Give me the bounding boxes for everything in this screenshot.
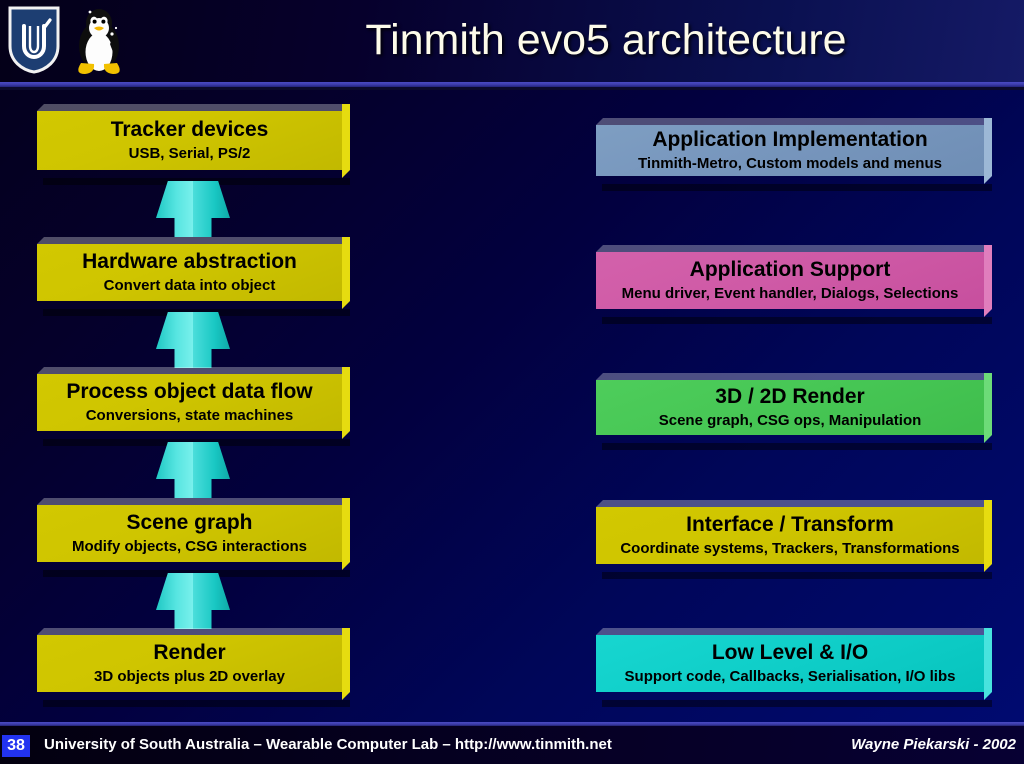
- box-title: Low Level & I/O: [712, 640, 868, 666]
- box-side-bevel: [984, 245, 992, 317]
- box-labels: Hardware abstraction Convert data into o…: [37, 244, 342, 301]
- box-top-bevel: [37, 628, 350, 635]
- header-divider-shadow: [0, 87, 1024, 90]
- box-title: 3D / 2D Render: [715, 384, 864, 410]
- box-side-bevel: [984, 373, 992, 443]
- pipeline-box-scene-graph[interactable]: Scene graph Modify objects, CSG interact…: [37, 498, 350, 570]
- box-subtitle: Convert data into object: [104, 275, 276, 296]
- flow-arrow-down-2: [156, 312, 230, 368]
- box-labels: Process object data flow Conversions, st…: [37, 374, 342, 431]
- arrow-left-facet: [156, 312, 193, 368]
- box-side-bevel: [342, 104, 350, 178]
- box-labels: Interface / Transform Coordinate systems…: [596, 507, 984, 564]
- box-top-bevel: [596, 373, 992, 380]
- box-drop-shadow: [43, 700, 350, 707]
- box-labels: Application Support Menu driver, Event h…: [596, 252, 984, 309]
- slide-canvas: Tinmith evo5 architecture Tracker device…: [0, 0, 1024, 764]
- box-side-bevel: [342, 237, 350, 309]
- box-subtitle: Modify objects, CSG interactions: [72, 536, 307, 557]
- box-subtitle: Menu driver, Event handler, Dialogs, Sel…: [622, 283, 959, 304]
- box-subtitle: USB, Serial, PS/2: [129, 143, 251, 164]
- box-top-bevel: [37, 498, 350, 505]
- box-drop-shadow: [602, 700, 992, 707]
- box-side-bevel: [342, 628, 350, 700]
- box-side-bevel: [984, 500, 992, 572]
- box-labels: Tracker devices USB, Serial, PS/2: [37, 111, 342, 170]
- box-top-bevel: [596, 500, 992, 507]
- arrow-right-facet: [193, 573, 230, 629]
- slide-number-badge: 38: [2, 735, 30, 757]
- box-top-bevel: [596, 245, 992, 252]
- box-labels: 3D / 2D Render Scene graph, CSG ops, Man…: [596, 380, 984, 435]
- box-title: Process object data flow: [66, 379, 312, 405]
- box-title: Interface / Transform: [686, 512, 894, 538]
- box-subtitle: Conversions, state machines: [86, 405, 294, 426]
- box-subtitle: Coordinate systems, Trackers, Transforma…: [620, 538, 959, 559]
- box-title: Application Support: [690, 257, 891, 283]
- footer-author-text: Wayne Piekarski - 2002: [851, 736, 1016, 753]
- box-labels: Render 3D objects plus 2D overlay: [37, 635, 342, 692]
- box-title: Tracker devices: [111, 117, 269, 143]
- layer-box-application-implementation[interactable]: Application Implementation Tinmith-Metro…: [596, 118, 992, 184]
- arrow-right-facet: [193, 181, 230, 237]
- box-title: Scene graph: [126, 510, 252, 536]
- box-side-bevel: [984, 628, 992, 700]
- arrow-right-facet: [193, 442, 230, 498]
- layer-box-interface-transform[interactable]: Interface / Transform Coordinate systems…: [596, 500, 992, 572]
- page-title: Tinmith evo5 architecture: [200, 12, 1012, 68]
- footer-credit-text: University of South Australia – Wearable…: [44, 736, 612, 753]
- box-drop-shadow: [602, 443, 992, 450]
- box-drop-shadow: [602, 184, 992, 191]
- pipeline-box-hardware-abstraction[interactable]: Hardware abstraction Convert data into o…: [37, 237, 350, 309]
- flow-arrow-down-1: [156, 181, 230, 237]
- box-side-bevel: [342, 367, 350, 439]
- box-subtitle: Scene graph, CSG ops, Manipulation: [659, 410, 922, 431]
- flow-arrow-down-3: [156, 442, 230, 498]
- layer-box-application-support[interactable]: Application Support Menu driver, Event h…: [596, 245, 992, 317]
- box-subtitle: 3D objects plus 2D overlay: [94, 666, 285, 687]
- box-drop-shadow: [602, 572, 992, 579]
- unisa-shield-logo-icon: [8, 6, 60, 74]
- layer-box-low-level-io[interactable]: Low Level & I/O Support code, Callbacks,…: [596, 628, 992, 700]
- box-subtitle: Support code, Callbacks, Serialisation, …: [625, 666, 956, 687]
- box-labels: Low Level & I/O Support code, Callbacks,…: [596, 635, 984, 692]
- box-title: Application Implementation: [652, 127, 927, 153]
- box-top-bevel: [37, 104, 350, 111]
- box-top-bevel: [37, 237, 350, 244]
- box-title: Hardware abstraction: [82, 249, 297, 275]
- flow-arrow-down-4: [156, 573, 230, 629]
- pipeline-box-tracker-devices[interactable]: Tracker devices USB, Serial, PS/2: [37, 104, 350, 178]
- arrow-left-facet: [156, 181, 193, 237]
- box-side-bevel: [342, 498, 350, 570]
- box-labels: Scene graph Modify objects, CSG interact…: [37, 505, 342, 562]
- pipeline-box-render[interactable]: Render 3D objects plus 2D overlay: [37, 628, 350, 700]
- box-top-bevel: [596, 628, 992, 635]
- box-labels: Application Implementation Tinmith-Metro…: [596, 125, 984, 176]
- box-top-bevel: [596, 118, 992, 125]
- box-drop-shadow: [602, 317, 992, 324]
- box-title: Render: [153, 640, 225, 666]
- arrow-right-facet: [193, 312, 230, 368]
- box-side-bevel: [984, 118, 992, 184]
- arrow-left-facet: [156, 573, 193, 629]
- pipeline-box-process-object-data-flow[interactable]: Process object data flow Conversions, st…: [37, 367, 350, 439]
- linux-tux-logo-icon: [68, 6, 130, 76]
- box-top-bevel: [37, 367, 350, 374]
- arrow-left-facet: [156, 442, 193, 498]
- layer-box-3d-2d-render[interactable]: 3D / 2D Render Scene graph, CSG ops, Man…: [596, 373, 992, 443]
- box-subtitle: Tinmith-Metro, Custom models and menus: [638, 153, 942, 174]
